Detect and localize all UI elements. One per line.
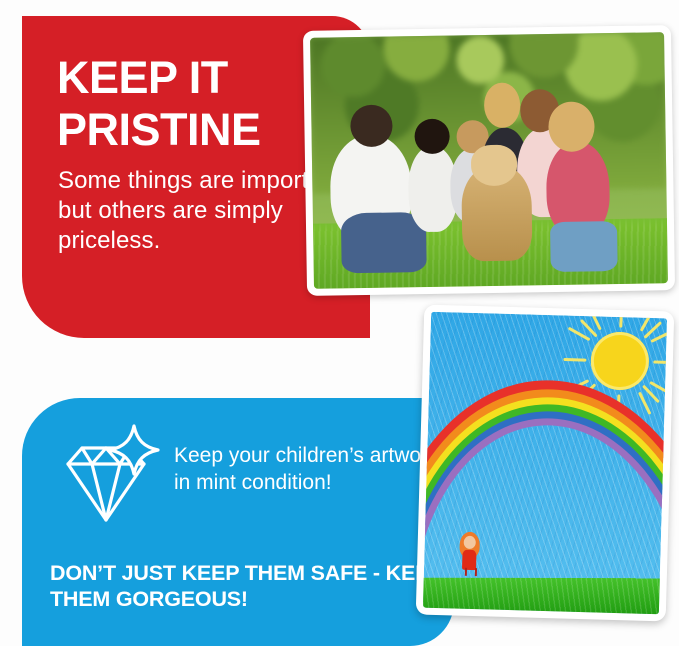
photo-head-boy bbox=[414, 118, 450, 154]
blue-panel: Keep your children’s artwork in mint con… bbox=[22, 398, 454, 646]
photo-head-teen-blonde bbox=[484, 82, 520, 128]
childs-rainbow-drawing bbox=[416, 305, 675, 622]
poster-canvas: KEEP IT PRISTINE Some things are importa… bbox=[0, 0, 679, 646]
diamond-sparkle-icon bbox=[54, 420, 166, 532]
drawing-girl-figure bbox=[457, 532, 482, 577]
family-photo-image bbox=[310, 32, 668, 289]
photo-person-girl-pink-jeans bbox=[550, 221, 618, 272]
blue-panel-cta: DON’T JUST KEEP THEM SAFE - KEEP THEM GO… bbox=[50, 560, 450, 612]
drawing-girl-legs bbox=[465, 568, 477, 576]
blue-panel-tagline: Keep your children’s artwork in mint con… bbox=[174, 442, 444, 496]
drawing-image bbox=[423, 312, 667, 614]
drawing-grass bbox=[423, 578, 667, 614]
family-with-dog-photo bbox=[303, 25, 675, 296]
